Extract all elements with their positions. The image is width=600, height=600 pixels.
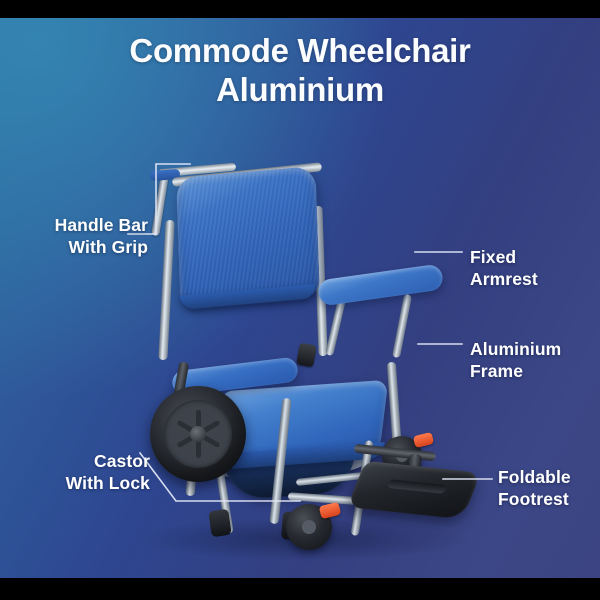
castor-left-hub bbox=[302, 520, 316, 534]
frame-joint-left bbox=[208, 509, 231, 538]
callout-fixed-armrest: Fixed Armrest bbox=[470, 246, 595, 291]
callout-castor-with-lock: Castor With Lock bbox=[14, 450, 150, 495]
callout-foldable-footrest: Foldable Footrest bbox=[498, 466, 598, 511]
page-title: Commode Wheelchair Aluminium bbox=[0, 32, 600, 110]
title-line-1: Commode Wheelchair bbox=[129, 32, 470, 69]
title-line-2: Aluminium bbox=[0, 71, 600, 110]
callout-aluminium-frame: Aluminium Frame bbox=[470, 338, 598, 383]
backrest-post-left bbox=[158, 220, 174, 360]
letterbox-bar-bottom bbox=[0, 578, 600, 600]
rear-wheel-hub bbox=[190, 426, 206, 442]
armrest-right-clamp bbox=[296, 343, 317, 368]
castor-lock-lever-right bbox=[413, 432, 434, 448]
castor-lock-lever-left bbox=[319, 502, 342, 519]
armrest-right-post-rear bbox=[392, 294, 412, 358]
commode-wheelchair-product-image bbox=[120, 148, 480, 548]
callout-handle-bar: Handle Bar With Grip bbox=[8, 214, 148, 259]
infographic-canvas: Commode Wheelchair Aluminium Handle Bar … bbox=[0, 0, 600, 600]
letterbox-bar-top bbox=[0, 0, 600, 18]
fixed-armrest-right bbox=[317, 263, 444, 306]
gradient-background: Commode Wheelchair Aluminium Handle Bar … bbox=[0, 18, 600, 578]
